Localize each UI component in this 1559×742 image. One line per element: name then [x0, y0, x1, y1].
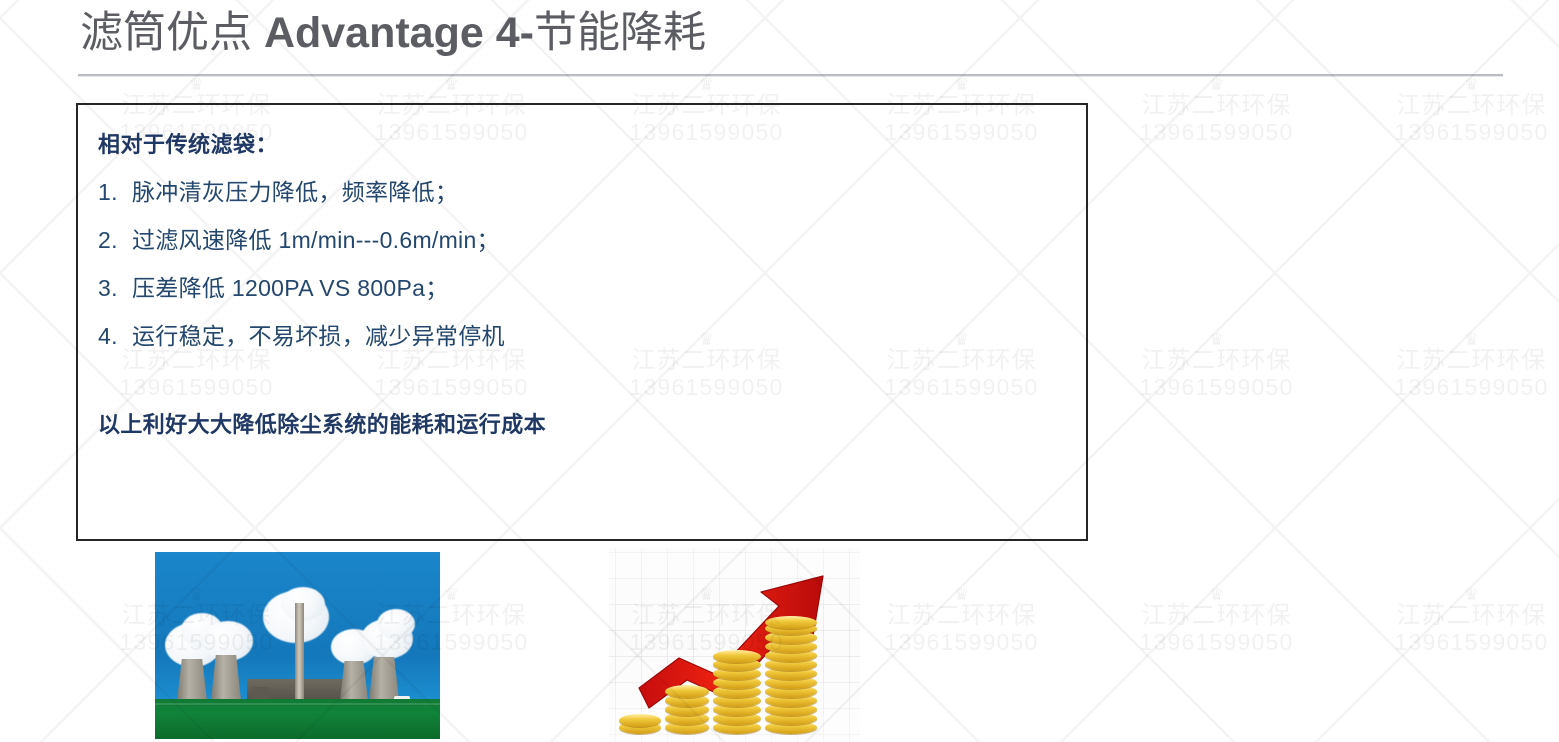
watermark-tile: ♛江苏二环环保13961599050: [1379, 588, 1559, 655]
slide-canvas: 滤筒优点 Advantage 4-节能降耗 相对于传统滤袋： 1. 脉冲清灰压力…: [0, 0, 1559, 742]
cooling-tower: [369, 657, 399, 701]
steam-plume: [377, 609, 415, 639]
title-divider: [78, 74, 1503, 77]
watermark-company-name: 江苏二环环保: [1124, 92, 1309, 120]
list-item-text: 脉冲清灰压力降低，频率降低；: [132, 173, 458, 207]
crown-icon: ♛: [869, 78, 1054, 92]
watermark-tile: ♛江苏二环环保13961599050: [1379, 78, 1559, 145]
content-box: 相对于传统滤袋： 1. 脉冲清灰压力降低，频率降低； 2. 过滤风速降低 1m/…: [76, 103, 1088, 541]
watermark-tile: ♛江苏二环环保13961599050: [1124, 588, 1309, 655]
crown-icon: ♛: [869, 588, 1054, 602]
cooling-tower: [211, 655, 241, 701]
crown-icon: ♛: [1124, 588, 1309, 602]
watermark-phone: 13961599050: [869, 630, 1054, 655]
watermark-tile: ♛江苏二环环保13961599050: [1124, 78, 1309, 145]
title-cn-suffix: 节能降耗: [534, 9, 706, 57]
lead-text: 相对于传统滤袋：: [90, 117, 1076, 159]
page-title: 滤筒优点 Advantage 4-节能降耗: [80, 2, 1500, 66]
crown-icon: ♛: [1379, 588, 1559, 602]
list-item-number: 1.: [98, 179, 132, 206]
coin: [765, 616, 817, 629]
coin: [619, 714, 661, 727]
list-item-number: 4.: [98, 323, 132, 350]
crown-icon: ♛: [614, 78, 799, 92]
crown-icon: ♛: [1124, 78, 1309, 92]
list-item: 1. 脉冲清灰压力降低，频率降低；: [90, 159, 1076, 207]
coin-stack: [665, 684, 709, 734]
coin-stack: [765, 616, 817, 734]
watermark-company-name: 江苏二环环保: [1379, 92, 1559, 120]
summary-text: 以上利好大大降低除尘系统的能耗和运行成本: [90, 351, 1076, 439]
photo-field: [155, 699, 440, 739]
title-cn-prefix: 滤筒优点: [80, 9, 264, 57]
list-item: 4. 运行稳定，不易坏损，减少异常停机: [90, 303, 1076, 351]
list-item: 2. 过滤风速降低 1m/min---0.6m/min；: [90, 207, 1076, 255]
cooling-tower: [340, 661, 368, 701]
crown-icon: ♛: [1379, 333, 1559, 347]
watermark-tile: ♛江苏二环环保13961599050: [1379, 333, 1559, 400]
crown-icon: ♛: [1379, 78, 1559, 92]
list-item-text: 压差降低 1200PA VS 800Pa；: [132, 269, 449, 303]
watermark-phone: 13961599050: [1124, 630, 1309, 655]
crown-icon: ♛: [359, 78, 544, 92]
smokestack: [295, 603, 304, 701]
list-item-text: 运行稳定，不易坏损，减少异常停机: [132, 317, 505, 351]
coin-stack: [713, 650, 761, 734]
crown-icon: ♛: [1124, 333, 1309, 347]
coin: [665, 685, 709, 698]
power-plant-photo: [155, 552, 440, 739]
page-title-text: 滤筒优点 Advantage 4-节能降耗: [80, 10, 706, 57]
list-item: 3. 压差降低 1200PA VS 800Pa；: [90, 255, 1076, 303]
list-item-text: 过滤风速降低 1m/min---0.6m/min；: [132, 221, 500, 255]
watermark-tile: ♛江苏二环环保13961599050: [1124, 333, 1309, 400]
watermark-phone: 13961599050: [1124, 375, 1309, 400]
crown-icon: ♛: [104, 78, 289, 92]
watermark-tile: ♛江苏二环环保13961599050: [869, 588, 1054, 655]
watermark-phone: 13961599050: [1124, 120, 1309, 145]
coin-stack: [619, 712, 661, 734]
advantage-list: 1. 脉冲清灰压力降低，频率降低； 2. 过滤风速降低 1m/min---0.6…: [90, 159, 1076, 351]
coin: [713, 650, 761, 663]
rising-coins-chart: [609, 548, 860, 742]
watermark-company-name: 江苏二环环保: [1124, 347, 1309, 375]
cooling-tower: [177, 659, 207, 701]
watermark-company-name: 江苏二环环保: [1124, 602, 1309, 630]
watermark-company-name: 江苏二环环保: [1379, 602, 1559, 630]
watermark-company-name: 江苏二环环保: [869, 602, 1054, 630]
watermark-phone: 13961599050: [1379, 630, 1559, 655]
title-en-middle: Advantage 4-: [264, 9, 534, 57]
list-item-number: 3.: [98, 275, 132, 302]
watermark-company-name: 江苏二环环保: [1379, 347, 1559, 375]
watermark-phone: 13961599050: [1379, 375, 1559, 400]
list-item-number: 2.: [98, 227, 132, 254]
watermark-phone: 13961599050: [1379, 120, 1559, 145]
content-list-wrapper: 相对于传统滤袋： 1. 脉冲清灰压力降低，频率降低； 2. 过滤风速降低 1m/…: [90, 117, 1076, 439]
